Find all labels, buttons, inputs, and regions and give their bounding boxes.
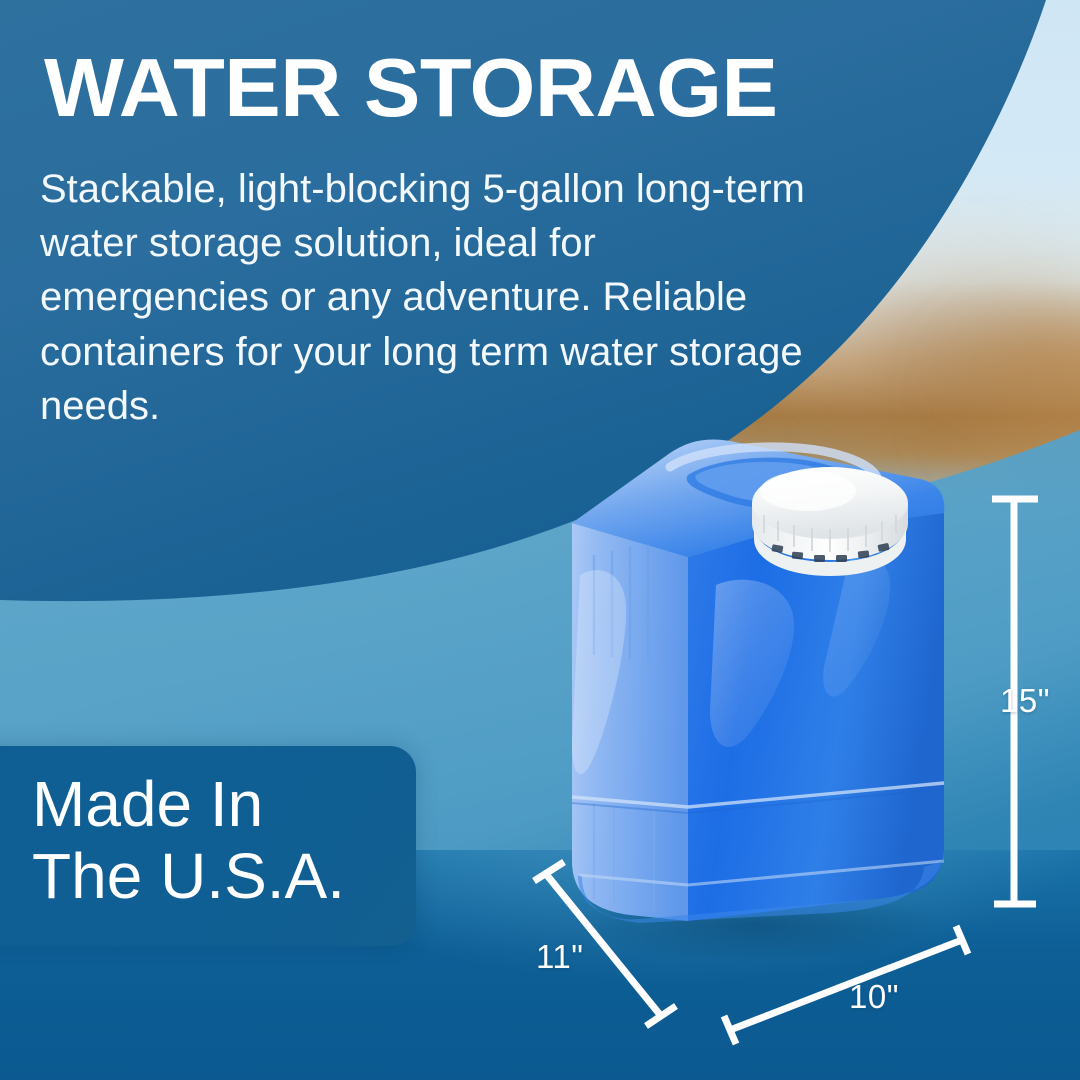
product-infographic: WATER STORAGE Stackable, light-blocking …	[0, 0, 1080, 1080]
depth-dimension-label: 11"	[536, 938, 583, 976]
dimension-callouts: 15" 11" 10"	[0, 0, 1080, 1080]
width-dimension-label: 10"	[849, 978, 899, 1016]
height-dimension-label: 15"	[1000, 682, 1050, 720]
width-dimension-line	[730, 940, 962, 1030]
